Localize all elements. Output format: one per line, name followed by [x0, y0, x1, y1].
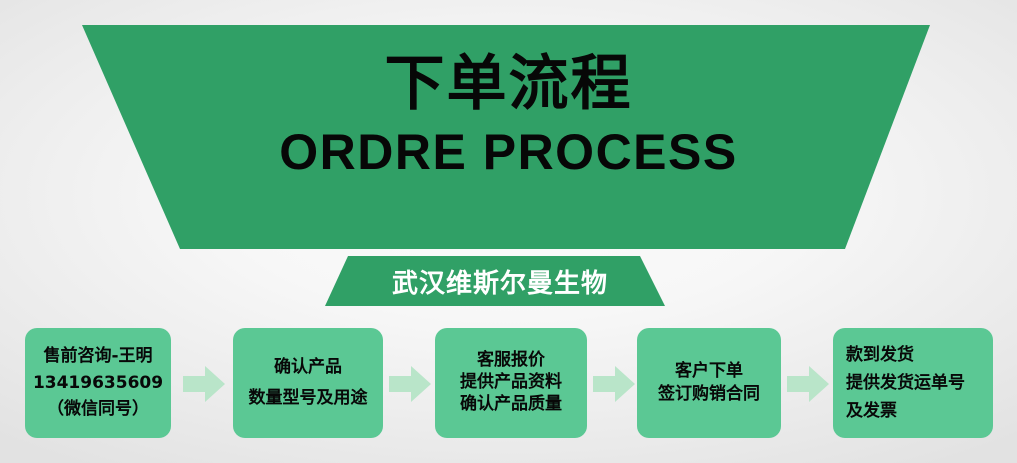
step-2-line-2: 数量型号及用途 — [249, 383, 368, 414]
step-5-line-2: 提供发货运单号 — [846, 369, 965, 397]
process-step-1[interactable]: 售前咨询-王明 13419635609 （微信同号） — [25, 328, 171, 438]
arrow-right-icon — [389, 366, 431, 402]
step-3-line-3: 确认产品质量 — [460, 394, 562, 416]
step-1-line-2: 13419635609 — [33, 370, 163, 396]
order-process-banner: 下单流程 ORDRE PROCESS 武汉维斯尔曼生物 售前咨询-王明 1341… — [0, 0, 1017, 463]
step-5-line-3: 及发票 — [846, 397, 897, 425]
process-step-row: 售前咨询-王明 13419635609 （微信同号） 确认产品 数量型号及用途 … — [0, 328, 1017, 440]
step-3-line-1: 客服报价 — [477, 350, 545, 372]
process-step-5[interactable]: 款到发货 提供发货运单号 及发票 — [833, 328, 993, 438]
arrow-right-icon — [787, 366, 829, 402]
step-1-line-1: 售前咨询-王明 — [43, 343, 152, 369]
step-1-line-3: （微信同号） — [47, 396, 149, 422]
process-step-2[interactable]: 确认产品 数量型号及用途 — [233, 328, 383, 438]
step-3-line-2: 提供产品资料 — [460, 372, 562, 394]
arrow-right-icon-4 — [787, 366, 829, 402]
sub-banner-shape — [300, 256, 700, 306]
step-5-line-1: 款到发货 — [846, 341, 914, 369]
process-step-3[interactable]: 客服报价 提供产品资料 确认产品质量 — [435, 328, 587, 438]
header-trapezoid-shape — [0, 25, 1017, 249]
arrow-right-icon-3 — [593, 366, 635, 402]
arrow-right-icon-1 — [183, 366, 225, 402]
step-2-line-1: 确认产品 — [274, 352, 342, 383]
sub-banner-trapezoid — [300, 256, 700, 306]
step-4-line-2: 签订购销合同 — [658, 383, 760, 406]
step-4-line-1: 客户下单 — [675, 360, 743, 383]
header-trapezoid — [0, 25, 1017, 249]
arrow-right-icon-2 — [389, 366, 431, 402]
process-step-4[interactable]: 客户下单 签订购销合同 — [637, 328, 781, 438]
arrow-right-icon — [183, 366, 225, 402]
arrow-right-icon — [593, 366, 635, 402]
